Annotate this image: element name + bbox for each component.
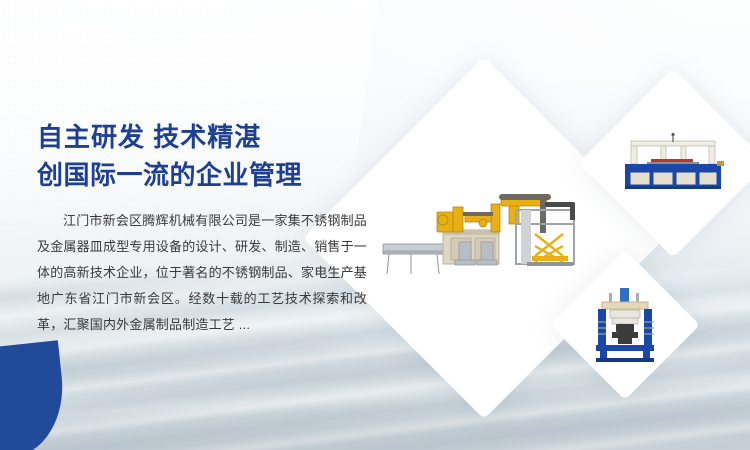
stamping-press-photo-inner (572, 272, 678, 378)
company-profile-banner: 自主研发 技术精湛 创国际一流的企业管理 江门市新会区腾辉机械有限公司是一家集不… (0, 0, 750, 450)
headline-line-1: 自主研发 技术精湛 (37, 118, 367, 156)
stamping-press-illustration (590, 288, 660, 362)
welding-machine-illustration (621, 133, 725, 193)
headline-line-2: 创国际一流的企业管理 (37, 156, 367, 194)
company-description: 江门市新会区腾辉机械有限公司是一家集不锈钢制品及金属器皿成型专用设备的设计、研发… (37, 208, 367, 338)
copy-block: 自主研发 技术精湛 创国际一流的企业管理 江门市新会区腾辉机械有限公司是一家集不… (37, 118, 367, 351)
welding-machine-photo-inner (606, 96, 740, 230)
production-line-illustration (377, 190, 592, 286)
headline: 自主研发 技术精湛 创国际一流的企业管理 (37, 118, 367, 194)
